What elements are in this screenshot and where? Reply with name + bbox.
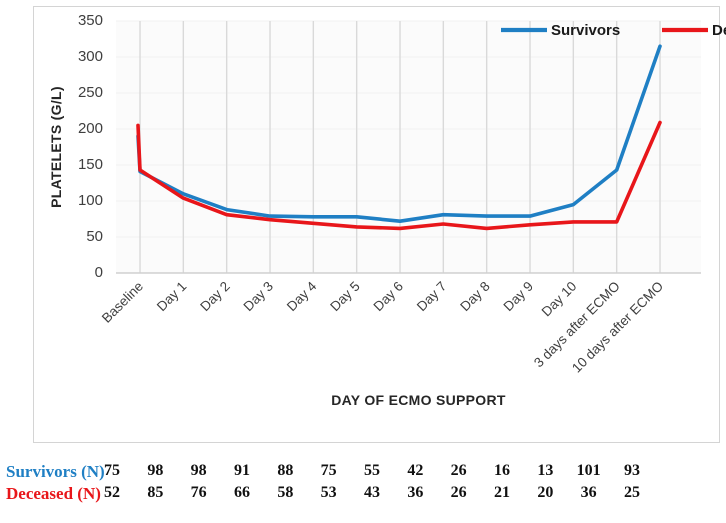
- y-tick-label: 200: [78, 120, 103, 137]
- y-axis-title: PLATELETS (G/L): [48, 86, 64, 208]
- row-label: Deceased (N): [6, 484, 101, 504]
- table-row: Survivors (N)759898918875554226161310193: [0, 462, 726, 484]
- table-cell: 13: [527, 462, 563, 480]
- x-axis-title: DAY OF ECMO SUPPORT: [331, 392, 506, 408]
- table-cell: 91: [224, 462, 260, 480]
- table-cell: 26: [441, 484, 477, 502]
- table-cell: 16: [484, 462, 520, 480]
- y-tick-label: 0: [95, 264, 103, 281]
- table-cell: 101: [571, 462, 607, 480]
- table-cell: 88: [267, 462, 303, 480]
- y-tick-label: 300: [78, 48, 103, 65]
- table-cell: 93: [614, 462, 650, 480]
- y-tick-label: 150: [78, 156, 103, 173]
- table-cell: 36: [397, 484, 433, 502]
- table-cell: 20: [527, 484, 563, 502]
- y-tick-label: 50: [86, 228, 103, 245]
- table-cell: 76: [181, 484, 217, 502]
- table-cell: 21: [484, 484, 520, 502]
- plot-background: [116, 21, 701, 273]
- y-tick-label: 100: [78, 192, 103, 209]
- table-cell: 58: [267, 484, 303, 502]
- y-tick-label: 350: [78, 12, 103, 29]
- table-cell: 75: [311, 462, 347, 480]
- table-cell: 75: [94, 462, 130, 480]
- row-label: Survivors (N): [6, 462, 105, 482]
- x-tick-label: Day 10: [539, 279, 580, 320]
- x-tick-label: Day 6: [371, 279, 407, 315]
- counts-table: Survivors (N)759898918875554226161310193…: [0, 462, 726, 520]
- x-tick-label: Day 4: [284, 278, 320, 314]
- y-tick-label: 250: [78, 84, 103, 101]
- table-cell: 26: [441, 462, 477, 480]
- table-cell: 55: [354, 462, 390, 480]
- x-tick-label: Baseline: [99, 279, 146, 326]
- table-cell: 43: [354, 484, 390, 502]
- x-tick-label: Day 5: [327, 279, 363, 315]
- table-cell: 25: [614, 484, 650, 502]
- table-cell: 98: [181, 462, 217, 480]
- table-cell: 52: [94, 484, 130, 502]
- platelets-line-chart: 050100150200250300350PLATELETS (G/L)Base…: [1, 1, 726, 451]
- table-cell: 98: [137, 462, 173, 480]
- x-tick-label: Day 8: [457, 279, 493, 315]
- table-cell: 36: [571, 484, 607, 502]
- chart-card: 050100150200250300350PLATELETS (G/L)Base…: [33, 6, 720, 443]
- x-tick-label: Day 3: [241, 279, 277, 315]
- x-tick-label: Day 7: [414, 279, 450, 315]
- table-cell: 66: [224, 484, 260, 502]
- legend-label-deceased: Deceased: [712, 22, 726, 39]
- table-row: Deceased (N)52857666585343362621203625: [0, 484, 726, 506]
- x-tick-label: Day 1: [154, 279, 190, 315]
- table-cell: 53: [311, 484, 347, 502]
- legend-label-survivors: Survivors: [551, 22, 620, 39]
- x-tick-label: Day 9: [501, 279, 537, 315]
- x-tick-label: Day 2: [197, 279, 233, 315]
- table-cell: 85: [137, 484, 173, 502]
- table-cell: 42: [397, 462, 433, 480]
